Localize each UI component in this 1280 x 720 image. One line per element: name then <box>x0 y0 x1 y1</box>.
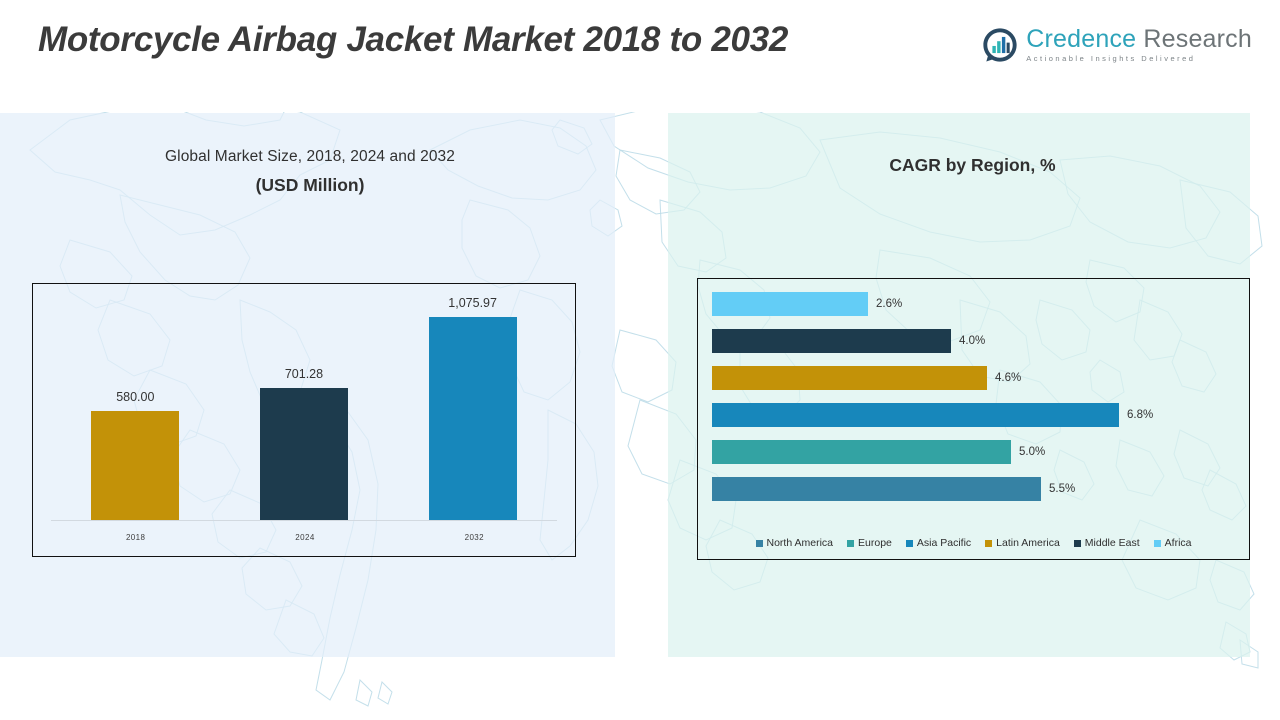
bar-value-label: 5.0% <box>1019 446 1045 458</box>
column-value-label: 701.28 <box>285 367 323 381</box>
cagr-by-region-bar-chart: 2.6%4.0%4.6%6.8%5.0%5.5% North AmericaEu… <box>697 278 1250 560</box>
bar-row: 4.6% <box>712 366 1021 390</box>
bar-row: 4.0% <box>712 329 985 353</box>
horizontal-bar <box>712 440 1011 464</box>
bar-row: 6.8% <box>712 403 1153 427</box>
bar-chart-bubble-logo-icon <box>981 26 1019 64</box>
legend-item[interactable]: Europe <box>847 537 892 549</box>
legend-item[interactable]: North America <box>756 537 834 549</box>
column-bar <box>91 411 179 520</box>
column-chart-plot-area: 580.00701.281,075.97 <box>51 296 557 520</box>
column-chart-axis-line <box>51 520 557 521</box>
horizontal-bar <box>712 292 868 316</box>
global-market-size-column-chart: 580.00701.281,075.97 201820242032 <box>32 283 576 557</box>
logo-text-block: Credence Research Actionable Insights De… <box>1026 27 1252 63</box>
column-value-label: 580.00 <box>116 390 154 404</box>
bar-value-label: 2.6% <box>876 298 902 310</box>
header-bar: Motorcycle Airbag Jacket Market 2018 to … <box>0 0 1280 112</box>
bar-value-label: 4.6% <box>995 372 1021 384</box>
logo-tagline: Actionable Insights Delivered <box>1026 55 1252 63</box>
right-chart-heading: CAGR by Region, % <box>700 155 1245 176</box>
bar-value-label: 6.8% <box>1127 409 1153 421</box>
left-chart-heading-line1: Global Market Size, 2018, 2024 and 2032 <box>50 148 570 166</box>
logo-brand-secondary: Research <box>1136 25 1252 53</box>
logo-brand-primary: Credence <box>1026 25 1136 53</box>
column-group: 580.00 <box>51 296 220 520</box>
legend-swatch-icon <box>847 540 854 547</box>
legend-label: North America <box>767 537 834 549</box>
column-group: 1,075.97 <box>388 296 557 520</box>
column-value-label: 1,075.97 <box>448 296 497 310</box>
horizontal-bar <box>712 366 987 390</box>
legend-label: Latin America <box>996 537 1060 549</box>
page-title: Motorcycle Airbag Jacket Market 2018 to … <box>38 20 788 60</box>
column-category-label: 2024 <box>220 533 389 542</box>
column-group: 701.28 <box>220 296 389 520</box>
left-chart-heading-line2: (USD Million) <box>50 175 570 196</box>
bar-chart-plot-area: 2.6%4.0%4.6%6.8%5.0%5.5% <box>712 292 1237 514</box>
legend-swatch-icon <box>1074 540 1081 547</box>
legend-label: Middle East <box>1085 537 1140 549</box>
legend-label: Asia Pacific <box>917 537 971 549</box>
horizontal-bar <box>712 329 951 353</box>
legend-label: Europe <box>858 537 892 549</box>
column-category-label: 2032 <box>390 533 559 542</box>
legend-item[interactable]: Africa <box>1154 537 1192 549</box>
horizontal-bar <box>712 403 1119 427</box>
horizontal-bar <box>712 477 1041 501</box>
column-bar <box>429 317 517 520</box>
left-chart-heading: Global Market Size, 2018, 2024 and 2032 … <box>50 148 570 196</box>
legend-item[interactable]: Middle East <box>1074 537 1140 549</box>
bar-value-label: 5.5% <box>1049 483 1075 495</box>
legend-swatch-icon <box>1154 540 1161 547</box>
column-category-label: 2018 <box>51 533 220 542</box>
credence-research-logo: Credence Research Actionable Insights De… <box>981 22 1252 68</box>
bar-row: 2.6% <box>712 292 902 316</box>
legend-label: Africa <box>1165 537 1192 549</box>
legend-item[interactable]: Latin America <box>985 537 1060 549</box>
legend-swatch-icon <box>985 540 992 547</box>
bar-value-label: 4.0% <box>959 335 985 347</box>
legend-swatch-icon <box>906 540 913 547</box>
bar-chart-legend: North AmericaEuropeAsia PacificLatin Ame… <box>698 537 1249 549</box>
bar-row: 5.5% <box>712 477 1075 501</box>
column-bar <box>260 388 348 520</box>
logo-wordmark: Credence Research <box>1026 27 1252 52</box>
legend-item[interactable]: Asia Pacific <box>906 537 971 549</box>
legend-swatch-icon <box>756 540 763 547</box>
bar-row: 5.0% <box>712 440 1045 464</box>
